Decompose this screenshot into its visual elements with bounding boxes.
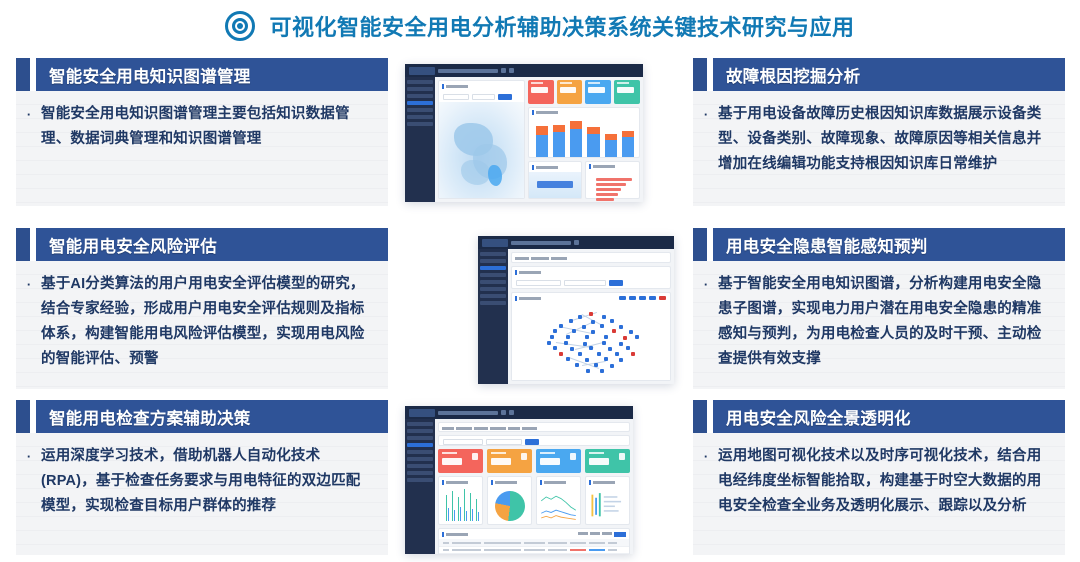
page-title-row: 可视化智能安全用电分析辅助决策系统关键技术研究与应用 [0, 4, 1080, 48]
app-content [508, 249, 674, 384]
graph-panel [511, 292, 671, 381]
kpi-card [557, 80, 583, 104]
card-body: · 智能安全用电知识图谱管理主要包括知识数据管理、数据词典管理和知识图谱管理 [16, 91, 388, 206]
stacked-bar-chart-panel [528, 107, 640, 158]
app-sidebar[interactable] [405, 419, 435, 554]
accent-block [693, 228, 707, 261]
card-header: 智能安全用电知识图谱管理 [16, 58, 388, 91]
poster-panel [528, 161, 583, 199]
table-header-row [439, 539, 629, 546]
grouped-bar-chart [439, 487, 482, 524]
bullet-text: 基于AI分类算法的用户用电安全评估模型的研究，结合专家经验，形成用户用电安全评估… [41, 272, 374, 372]
dashboard-map-screenshot [405, 64, 643, 202]
user-icon [501, 410, 506, 415]
app-title-placeholder [438, 69, 498, 73]
page-title: 可视化智能安全用电分析辅助决策系统关键技术研究与应用 [269, 10, 854, 42]
kpi-row [528, 80, 640, 104]
accent-block [16, 58, 30, 91]
kpi-card [614, 80, 640, 104]
bullet-text: 基于用电设备故障历史根因知识库数据展示设备类型、设备类别、故障现象、故障原因等相… [718, 102, 1051, 177]
kpi-card [585, 449, 630, 473]
bullet-dot-icon: · [701, 444, 711, 469]
bullet-dot-icon: · [701, 102, 711, 127]
app-content [435, 419, 633, 554]
knowledge-graph-canvas[interactable] [512, 303, 670, 380]
card-title-bar: 故障根因挖掘分析 [713, 58, 1065, 91]
bullet-dot-icon: · [24, 444, 34, 469]
kpi-card [438, 449, 483, 473]
card-inspection-decision[interactable]: 智能用电检查方案辅助决策 · 运用深度学习技术，借助机器人自动化技术(RPA)，… [16, 400, 388, 555]
card-body: · 基于用电设备故障历史根因知识库数据展示设备类型、设备类别、故障现象、故障原因… [693, 91, 1065, 206]
settings-icon [509, 68, 514, 73]
card-header: 故障根因挖掘分析 [693, 58, 1065, 91]
card-body: · 运用深度学习技术，借助机器人自动化技术(RPA)，基于检查任务要求与用电特征… [16, 433, 388, 555]
card-title-bar: 智能用电安全风险评估 [36, 228, 388, 261]
gantt-panel [585, 476, 630, 525]
app-title-placeholder [438, 411, 498, 415]
pie-chart-panel [487, 476, 532, 525]
bullet-item: · 基于智能安全用电知识图谱，分析构建用电安全隐患子图谱，实现电力用户潜在用电安… [701, 272, 1051, 372]
card-risk-assessment[interactable]: 智能用电安全风险评估 · 基于AI分类算法的用户用电安全评估模型的研究，结合专家… [16, 228, 388, 389]
breadcrumb-bar [511, 252, 671, 263]
app-logo [482, 239, 508, 247]
app-logo [409, 409, 435, 417]
kpi-card [528, 80, 554, 104]
app-topbar [478, 236, 674, 249]
bullet-text: 智能安全用电知识图谱管理主要包括知识数据管理、数据词典管理和知识图谱管理 [41, 102, 374, 152]
accent-block [693, 400, 707, 433]
app-content [435, 77, 643, 202]
card-body: · 运用地图可视化技术以及时序可视化技术，结合用电经纬度坐标智能拾取，构建基于时… [693, 433, 1065, 555]
filter-bar[interactable] [438, 435, 630, 446]
horizontal-bar-panel [585, 161, 640, 199]
app-logo [409, 67, 435, 75]
slide-root: 可视化智能安全用电分析辅助决策系统关键技术研究与应用 智能安全用电知识图谱管理 … [0, 0, 1080, 562]
graph-legend[interactable] [619, 296, 666, 300]
kpi-card [536, 449, 581, 473]
card-title: 智能用电安全风险评估 [49, 233, 217, 257]
knowledge-graph-screenshot [478, 236, 674, 384]
card-title: 故障根因挖掘分析 [726, 63, 860, 87]
grouped-bar-chart-panel [438, 476, 483, 525]
filter-panel [511, 266, 671, 289]
pie-chart [488, 487, 531, 524]
card-header: 智能用电安全风险评估 [16, 228, 388, 261]
bullet-dot-icon: · [24, 272, 34, 297]
horizontal-bar-chart [586, 171, 639, 202]
accent-block [693, 58, 707, 91]
app-sidebar[interactable] [405, 77, 435, 202]
card-title: 用电安全风险全景透明化 [726, 405, 911, 429]
bullet-dot-icon: · [24, 102, 34, 127]
kpi-card [487, 449, 532, 473]
campaign-poster-image [529, 172, 582, 198]
card-risk-transparency[interactable]: 用电安全风险全景透明化 · 运用地图可视化技术以及时序可视化技术，结合用电经纬度… [693, 400, 1065, 555]
app-topbar [405, 64, 643, 77]
app-title-placeholder [511, 241, 571, 245]
table-row[interactable] [439, 546, 629, 553]
user-icon [574, 240, 579, 245]
card-body: · 基于AI分类算法的用户用电安全评估模型的研究，结合专家经验，形成用户用电安全… [16, 261, 388, 389]
card-header: 用电安全风险全景透明化 [693, 400, 1065, 433]
bullet-text: 运用深度学习技术，借助机器人自动化技术(RPA)，基于检查任务要求与用电特征的双… [41, 444, 374, 519]
card-title-bar: 用电安全隐患智能感知预判 [713, 228, 1065, 261]
bullet-item: · 运用地图可视化技术以及时序可视化技术，结合用电经纬度坐标智能拾取，构建基于时… [701, 444, 1051, 519]
bullet-item: · 基于用电设备故障历史根因知识库数据展示设备类型、设备类别、故障现象、故障原因… [701, 102, 1051, 177]
gantt-chart [586, 487, 629, 524]
line-chart-panel [536, 476, 581, 525]
kpi-card [585, 80, 611, 104]
app-topbar [405, 406, 633, 419]
stacked-bar-chart [529, 117, 639, 160]
card-title: 智能安全用电知识图谱管理 [49, 63, 251, 87]
bullet-text: 运用地图可视化技术以及时序可视化技术，结合用电经纬度坐标智能拾取，构建基于时空大… [718, 444, 1051, 519]
card-title-bar: 智能安全用电知识图谱管理 [36, 58, 388, 91]
app-sidebar[interactable] [478, 249, 508, 384]
card-hazard-perception[interactable]: 用电安全隐患智能感知预判 · 基于智能安全用电知识图谱，分析构建用电安全隐患子图… [693, 228, 1065, 389]
accent-block [16, 400, 30, 433]
bullseye-icon [225, 11, 255, 41]
bullet-dot-icon: · [701, 272, 711, 297]
card-title-bar: 智能用电检查方案辅助决策 [36, 400, 388, 433]
analysis-dashboard-screenshot [405, 406, 633, 554]
table-row[interactable] [439, 553, 629, 554]
card-title: 用电安全隐患智能感知预判 [726, 233, 928, 257]
line-chart [537, 487, 580, 524]
card-body: · 基于智能安全用电知识图谱，分析构建用电安全隐患子图谱，实现电力用户潜在用电安… [693, 261, 1065, 389]
bullet-item: · 基于AI分类算法的用户用电安全评估模型的研究，结合专家经验，形成用户用电安全… [24, 272, 374, 372]
bullet-item: · 运用深度学习技术，借助机器人自动化技术(RPA)，基于检查任务要求与用电特征… [24, 444, 374, 519]
accent-block [16, 228, 30, 261]
user-icon [501, 68, 506, 73]
map-panel [438, 80, 525, 199]
kpi-row [438, 449, 630, 473]
filter-row[interactable] [512, 277, 670, 288]
china-region-map[interactable] [439, 102, 524, 198]
tab-bar[interactable] [438, 422, 630, 432]
card-header: 用电安全隐患智能感知预判 [693, 228, 1065, 261]
card-title: 智能用电检查方案辅助决策 [49, 405, 251, 429]
card-header: 智能用电检查方案辅助决策 [16, 400, 388, 433]
settings-icon [509, 410, 514, 415]
detail-table[interactable] [438, 528, 630, 554]
card-title-bar: 用电安全风险全景透明化 [713, 400, 1065, 433]
bullet-item: · 智能安全用电知识图谱管理主要包括知识数据管理、数据词典管理和知识图谱管理 [24, 102, 374, 152]
card-knowledge-graph-management[interactable]: 智能安全用电知识图谱管理 · 智能安全用电知识图谱管理主要包括知识数据管理、数据… [16, 58, 388, 206]
card-fault-root-cause[interactable]: 故障根因挖掘分析 · 基于用电设备故障历史根因知识库数据展示设备类型、设备类别、… [693, 58, 1065, 206]
bullet-text: 基于智能安全用电知识图谱，分析构建用电安全隐患子图谱，实现电力用户潜在用电安全隐… [718, 272, 1051, 372]
